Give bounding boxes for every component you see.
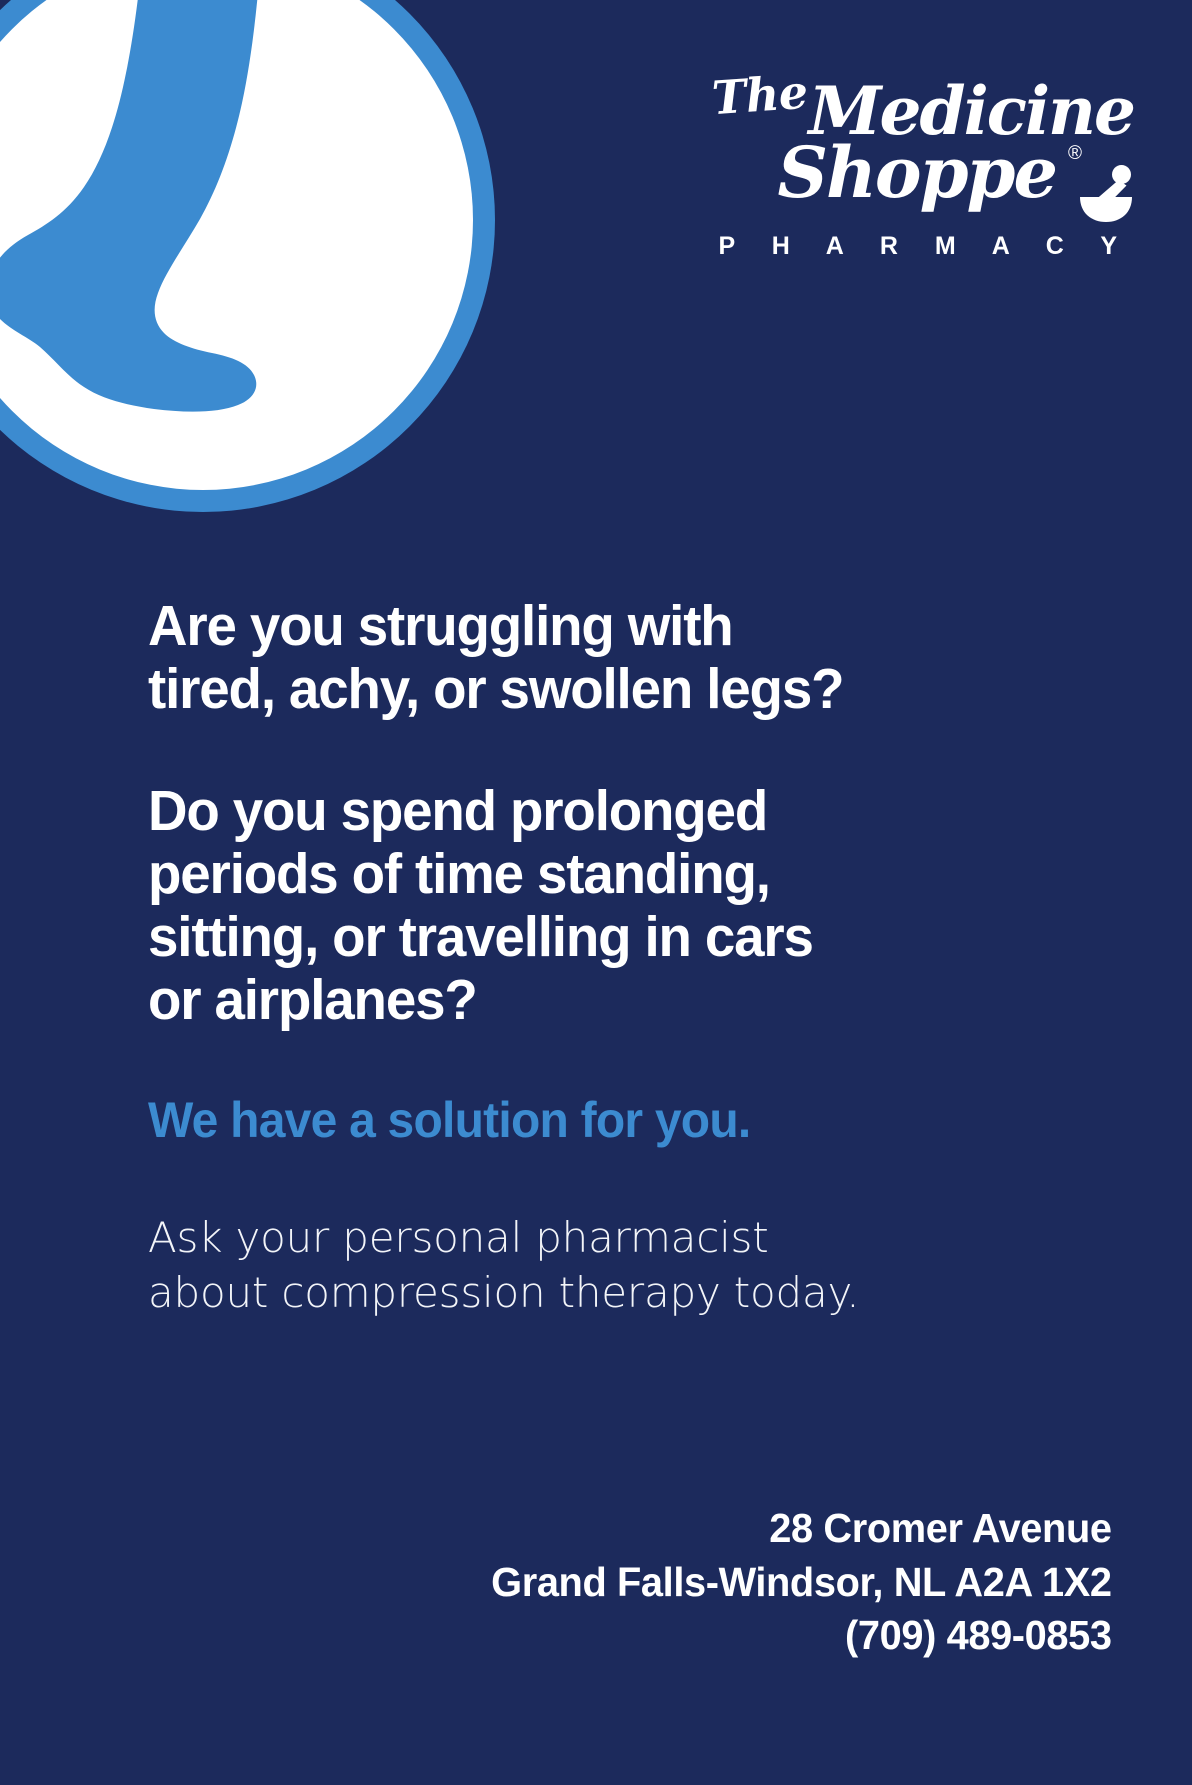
store-address-block: 28 Cromer Avenue Grand Falls-Windsor, NL… bbox=[492, 1502, 1112, 1663]
address-city-province-postal: Grand Falls-Windsor, NL A2A 1X2 bbox=[492, 1556, 1112, 1610]
headline-2-line-4: or airplanes? bbox=[148, 968, 477, 1032]
subcopy-line-1: Ask your personal pharmacist bbox=[148, 1210, 1112, 1265]
headline-1-line-1: Are you struggling with bbox=[148, 594, 733, 658]
registered-trademark-icon: ® bbox=[1068, 144, 1082, 163]
headline-2-line-2: periods of time standing, bbox=[148, 842, 770, 906]
call-to-action-text: Ask your personal pharmacist about compr… bbox=[148, 1210, 1112, 1321]
logo-script-the: The bbox=[711, 69, 809, 122]
headline-primary: Are you struggling with tired, achy, or … bbox=[148, 595, 1073, 722]
tagline: We have a solution for you. bbox=[148, 1093, 1073, 1148]
mortar-and-pestle-icon bbox=[1078, 164, 1134, 222]
leg-in-compression-stocking-illustration bbox=[0, 0, 518, 535]
logo-pharmacy-wordmark: P H A R M A C Y bbox=[704, 232, 1134, 261]
medicine-shoppe-pharmacy-logo: The Medicine Shoppe ® P H A R M A C Y bbox=[704, 78, 1134, 261]
compression-therapy-poster: The Medicine Shoppe ® P H A R M A C Y Ar… bbox=[0, 0, 1192, 1785]
headline-2-line-3: sitting, or travelling in cars bbox=[148, 905, 813, 969]
logo-line-shoppe: Shoppe ® bbox=[704, 138, 1134, 224]
headline-2-line-1: Do you spend prolonged bbox=[148, 779, 767, 843]
phone-number[interactable]: (709) 489-0853 bbox=[492, 1609, 1112, 1663]
logo-word-shoppe: Shoppe bbox=[777, 138, 1056, 208]
address-street: 28 Cromer Avenue bbox=[492, 1502, 1112, 1556]
poster-copy-block: Are you struggling with tired, achy, or … bbox=[148, 595, 1112, 1320]
headline-1-line-2: tired, achy, or swollen legs? bbox=[148, 657, 843, 721]
subcopy-line-2: about compression therapy today. bbox=[148, 1265, 1112, 1320]
headline-secondary: Do you spend prolonged periods of time s… bbox=[148, 780, 1073, 1033]
